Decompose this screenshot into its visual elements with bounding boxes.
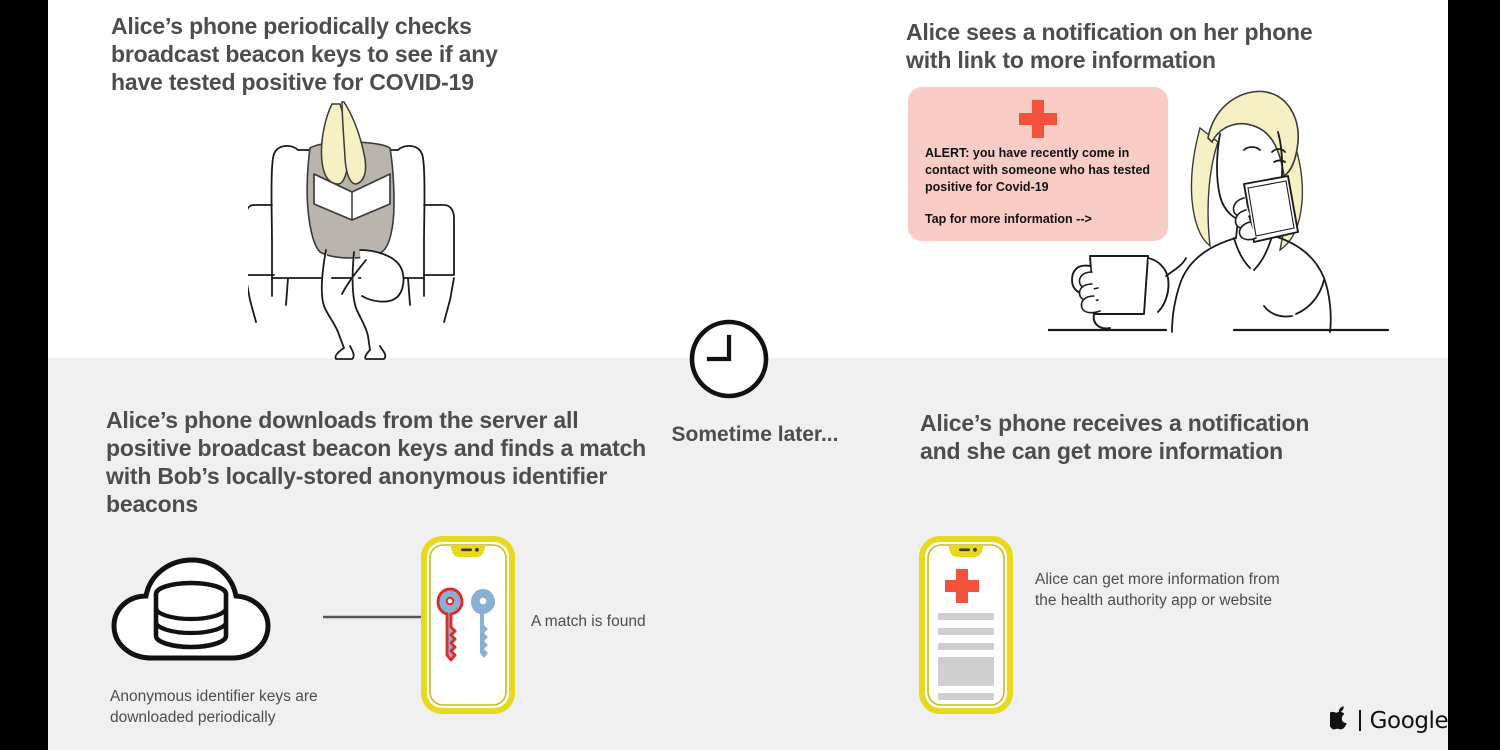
apple-logo bbox=[1330, 706, 1350, 735]
illustration-canvas: Alice’s phone periodically checks broadc… bbox=[48, 0, 1448, 750]
sometime-later-label: Sometime later... bbox=[640, 423, 870, 447]
cloud-database-icon bbox=[108, 556, 274, 667]
phone-with-health-app bbox=[918, 535, 1014, 720]
person-sitting-illustration bbox=[248, 100, 458, 365]
headline-top-left: Alice’s phone periodically checks broadc… bbox=[111, 12, 541, 96]
apple-google-logo-lockup: Google bbox=[1330, 706, 1448, 735]
cloud-caption: Anonymous identifier keys are downloaded… bbox=[110, 686, 360, 728]
clock-icon bbox=[688, 318, 770, 405]
match-found-caption: A match is found bbox=[531, 611, 651, 632]
woman-with-phone-illustration bbox=[1048, 80, 1408, 345]
headline-top-right: Alice sees a notification on her phone w… bbox=[906, 18, 1326, 74]
headline-bottom-right: Alice’s phone receives a notification an… bbox=[920, 409, 1320, 465]
health-app-caption: Alice can get more information from the … bbox=[1035, 569, 1285, 611]
phone-with-two-keys bbox=[420, 535, 516, 720]
google-wordmark: Google bbox=[1370, 708, 1448, 734]
headline-bottom-left: Alice’s phone downloads from the server … bbox=[106, 406, 666, 518]
logo-divider bbox=[1359, 710, 1361, 731]
